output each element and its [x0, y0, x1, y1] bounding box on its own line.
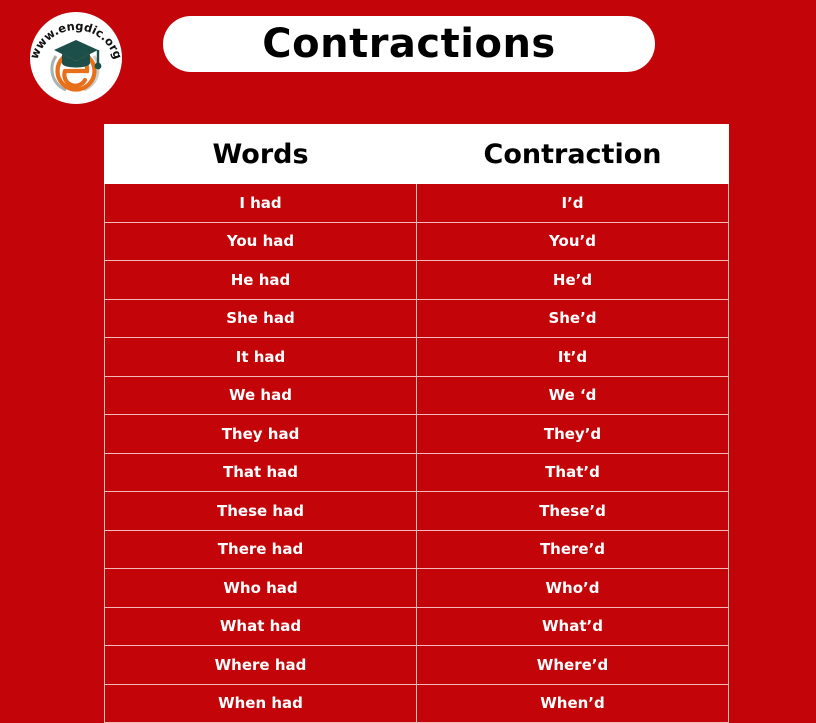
- cell-words: Who had: [105, 569, 417, 608]
- cell-contraction: It’d: [417, 338, 729, 377]
- cell-words: That had: [105, 453, 417, 492]
- table-row: I hadI’d: [105, 184, 729, 223]
- cell-words: These had: [105, 492, 417, 531]
- column-header-words: Words: [105, 125, 417, 184]
- cell-words: When had: [105, 684, 417, 723]
- cell-contraction: These’d: [417, 492, 729, 531]
- cell-contraction: I’d: [417, 184, 729, 223]
- engdic-logo: www.engdic.org: [22, 8, 130, 108]
- cell-words: They had: [105, 415, 417, 454]
- table-row: There hadThere’d: [105, 530, 729, 569]
- cell-words: I had: [105, 184, 417, 223]
- cell-contraction: Where’d: [417, 646, 729, 685]
- column-header-contraction: Contraction: [417, 125, 729, 184]
- table-row: These hadThese’d: [105, 492, 729, 531]
- table-row: That hadThat’d: [105, 453, 729, 492]
- cell-contraction: They’d: [417, 415, 729, 454]
- cell-words: We had: [105, 376, 417, 415]
- cell-contraction: When’d: [417, 684, 729, 723]
- cell-contraction: She’d: [417, 299, 729, 338]
- table-row: We hadWe ‘d: [105, 376, 729, 415]
- cell-contraction: You’d: [417, 222, 729, 261]
- cell-words: Where had: [105, 646, 417, 685]
- table-row: When hadWhen’d: [105, 684, 729, 723]
- cell-contraction: We ‘d: [417, 376, 729, 415]
- cell-words: What had: [105, 607, 417, 646]
- table-row: Where hadWhere’d: [105, 646, 729, 685]
- cell-contraction: That’d: [417, 453, 729, 492]
- cell-contraction: He’d: [417, 261, 729, 300]
- cell-words: He had: [105, 261, 417, 300]
- table-row: They hadThey’d: [105, 415, 729, 454]
- table-row: Who hadWho’d: [105, 569, 729, 608]
- page-title: Contractions: [262, 24, 555, 64]
- cell-contraction: There’d: [417, 530, 729, 569]
- table-row: You hadYou’d: [105, 222, 729, 261]
- page-title-pill: Contractions: [163, 16, 655, 72]
- contractions-table: Words Contraction I hadI’dYou hadYou’dHe…: [104, 124, 729, 723]
- table-row: It hadIt’d: [105, 338, 729, 377]
- table-row: What hadWhat’d: [105, 607, 729, 646]
- cell-words: She had: [105, 299, 417, 338]
- cell-words: There had: [105, 530, 417, 569]
- table-row: He hadHe’d: [105, 261, 729, 300]
- cell-words: It had: [105, 338, 417, 377]
- cell-contraction: Who’d: [417, 569, 729, 608]
- table-header-row: Words Contraction: [105, 125, 729, 184]
- cell-words: You had: [105, 222, 417, 261]
- table-row: She hadShe’d: [105, 299, 729, 338]
- cell-contraction: What’d: [417, 607, 729, 646]
